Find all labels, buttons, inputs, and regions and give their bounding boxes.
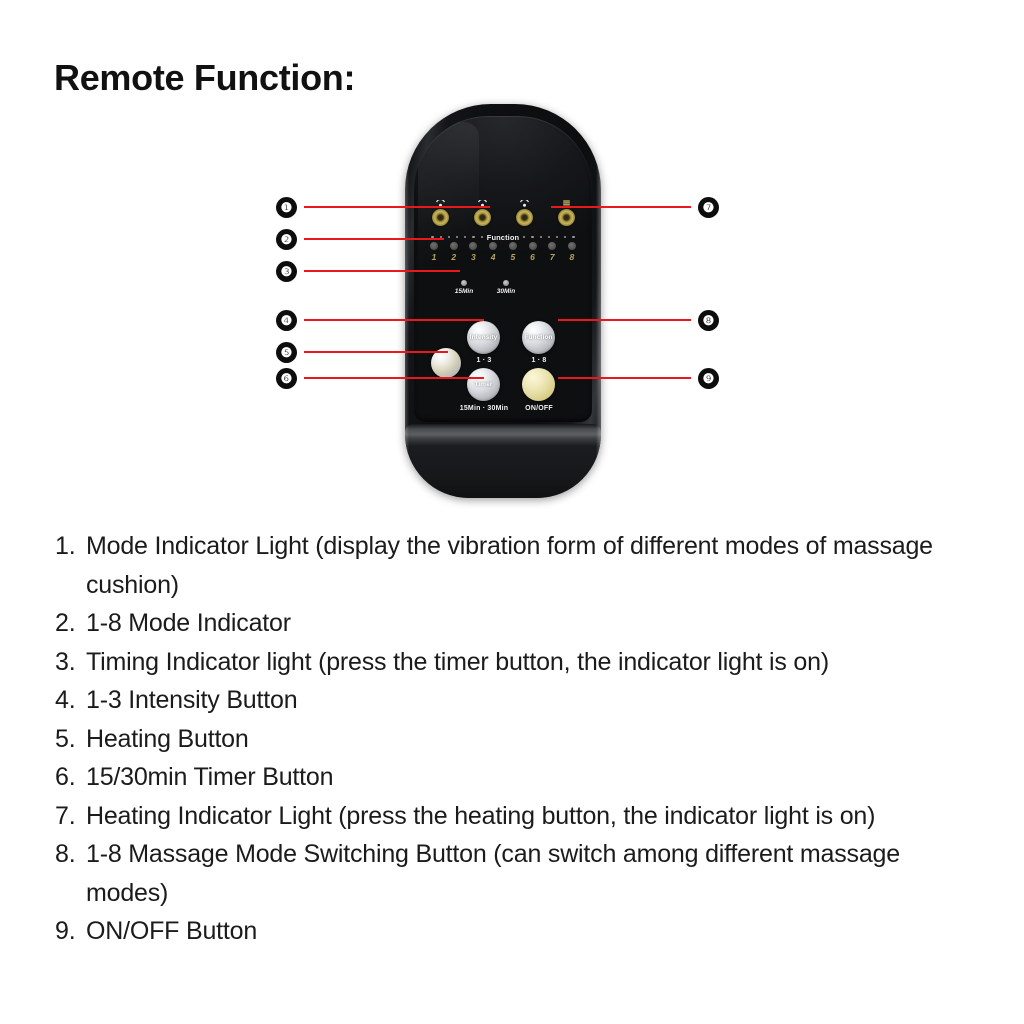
list-item-text: 1-8 Massage Mode Switching Button (can s…: [86, 835, 975, 912]
list-item-number: 5.: [55, 720, 86, 759]
function-button[interactable]: Function: [522, 321, 555, 354]
timing-label: 15Min: [455, 289, 473, 296]
list-item-number: 3.: [55, 643, 86, 682]
list-item: 7. Heating Indicator Light (press the he…: [55, 797, 975, 836]
callout-badge: ❾: [698, 368, 719, 389]
remote-control-device: Function 1 2 3 4: [405, 104, 601, 498]
timing-indicator-15min: 15Min: [452, 280, 476, 296]
mode-number-label: 6: [530, 253, 535, 262]
dot-group-right: [523, 236, 574, 238]
list-item-number: 7.: [55, 797, 86, 836]
callout-7: ❼: [551, 196, 719, 218]
mode-number-led: [450, 242, 458, 250]
callout-leader-line: [551, 206, 691, 209]
callout-badge: ❼: [698, 197, 719, 218]
callout-badge: ❻: [276, 368, 297, 389]
function-dot-strip: Function: [424, 232, 582, 242]
mode-number-led: [529, 242, 537, 250]
list-item-text: Heating Indicator Light (press the heati…: [86, 797, 975, 836]
list-item-number: 8.: [55, 835, 86, 912]
callout-leader-line: [304, 206, 490, 209]
timing-indicator-30min: 30Min: [494, 280, 518, 296]
power-button[interactable]: [522, 368, 555, 401]
mode-number-label: 3: [471, 253, 476, 262]
function-label: Function: [483, 233, 523, 242]
mode-number-label: 4: [491, 253, 496, 262]
callout-leader-line: [304, 377, 484, 380]
list-item-text: 15/30min Timer Button: [86, 758, 975, 797]
power-button-caption: ON/OFF: [505, 405, 573, 412]
list-item-number: 6.: [55, 758, 86, 797]
callout-8: ❽: [558, 309, 719, 331]
list-item-number: 2.: [55, 604, 86, 643]
function-button-caption: 1 · 8: [509, 357, 569, 364]
mode-number-led: [469, 242, 477, 250]
list-item-text: ON/OFF Button: [86, 912, 975, 951]
callout-4: ❹: [276, 309, 484, 331]
timing-label: 30Min: [497, 289, 515, 296]
callout-9: ❾: [558, 367, 719, 389]
mode-number-led: [489, 242, 497, 250]
callout-leader-line: [304, 351, 448, 354]
list-item: 9. ON/OFF Button: [55, 912, 975, 951]
mode-number-cell: 3: [465, 242, 481, 262]
mode-number-led: [548, 242, 556, 250]
list-item-number: 1.: [55, 527, 86, 604]
list-item-text: Timing Indicator light (press the timer …: [86, 643, 975, 682]
list-item: 1. Mode Indicator Light (display the vib…: [55, 527, 975, 604]
mode-number-led: [568, 242, 576, 250]
intensity-button-caption: 1 · 3: [454, 357, 514, 364]
callout-leader-line: [558, 377, 691, 380]
timing-led: [461, 280, 467, 286]
mode-number-cell: 7: [544, 242, 560, 262]
list-item: 2. 1-8 Mode Indicator: [55, 604, 975, 643]
list-item: 4. 1-3 Intensity Button: [55, 681, 975, 720]
mode-number-indicator: 1 2 3 4 5 6 7: [426, 242, 580, 262]
callout-leader-line: [304, 319, 484, 322]
mode-number-cell: 5: [505, 242, 521, 262]
list-item-text: 1-3 Intensity Button: [86, 681, 975, 720]
callout-leader-line: [304, 270, 460, 273]
list-item: 3. Timing Indicator light (press the tim…: [55, 643, 975, 682]
callout-2: ❷: [276, 228, 444, 250]
description-list: 1. Mode Indicator Light (display the vib…: [55, 527, 975, 951]
callout-badge: ❽: [698, 310, 719, 331]
callout-1: ❶: [276, 196, 490, 218]
callout-badge: ❶: [276, 197, 297, 218]
callout-leader-line: [304, 238, 444, 241]
list-item-number: 9.: [55, 912, 86, 951]
mode-number-cell: 4: [485, 242, 501, 262]
timing-indicator-light-row: 15Min 30Min: [452, 280, 518, 296]
mode-number-label: 7: [550, 253, 555, 262]
list-item-text: 1-8 Mode Indicator: [86, 604, 975, 643]
mode-indicator-light-3: [513, 200, 535, 226]
mode-number-led: [509, 242, 517, 250]
list-item-number: 4.: [55, 681, 86, 720]
mode-number-cell: 8: [564, 242, 580, 262]
mode-number-label: 5: [510, 253, 515, 262]
list-item: 6. 15/30min Timer Button: [55, 758, 975, 797]
callout-leader-line: [558, 319, 691, 322]
page-title: Remote Function:: [54, 57, 355, 99]
list-item: 5. Heating Button: [55, 720, 975, 759]
callout-3: ❸: [276, 260, 460, 282]
mode-number-cell: 6: [525, 242, 541, 262]
callout-badge: ❹: [276, 310, 297, 331]
callout-badge: ❺: [276, 342, 297, 363]
mode-number-label: 8: [570, 253, 575, 262]
list-item: 8. 1-8 Massage Mode Switching Button (ca…: [55, 835, 975, 912]
mode-led: [516, 209, 533, 226]
callout-badge: ❸: [276, 261, 297, 282]
wave-icon: [520, 200, 529, 208]
callout-6: ❻: [276, 367, 484, 389]
timing-led: [503, 280, 509, 286]
callout-badge: ❷: [276, 229, 297, 250]
mode-number-cell: 2: [446, 242, 462, 262]
callout-5: ❺: [276, 341, 448, 363]
remote-base: [405, 424, 601, 498]
list-item-text: Heating Button: [86, 720, 975, 759]
list-item-text: Mode Indicator Light (display the vibrat…: [86, 527, 975, 604]
